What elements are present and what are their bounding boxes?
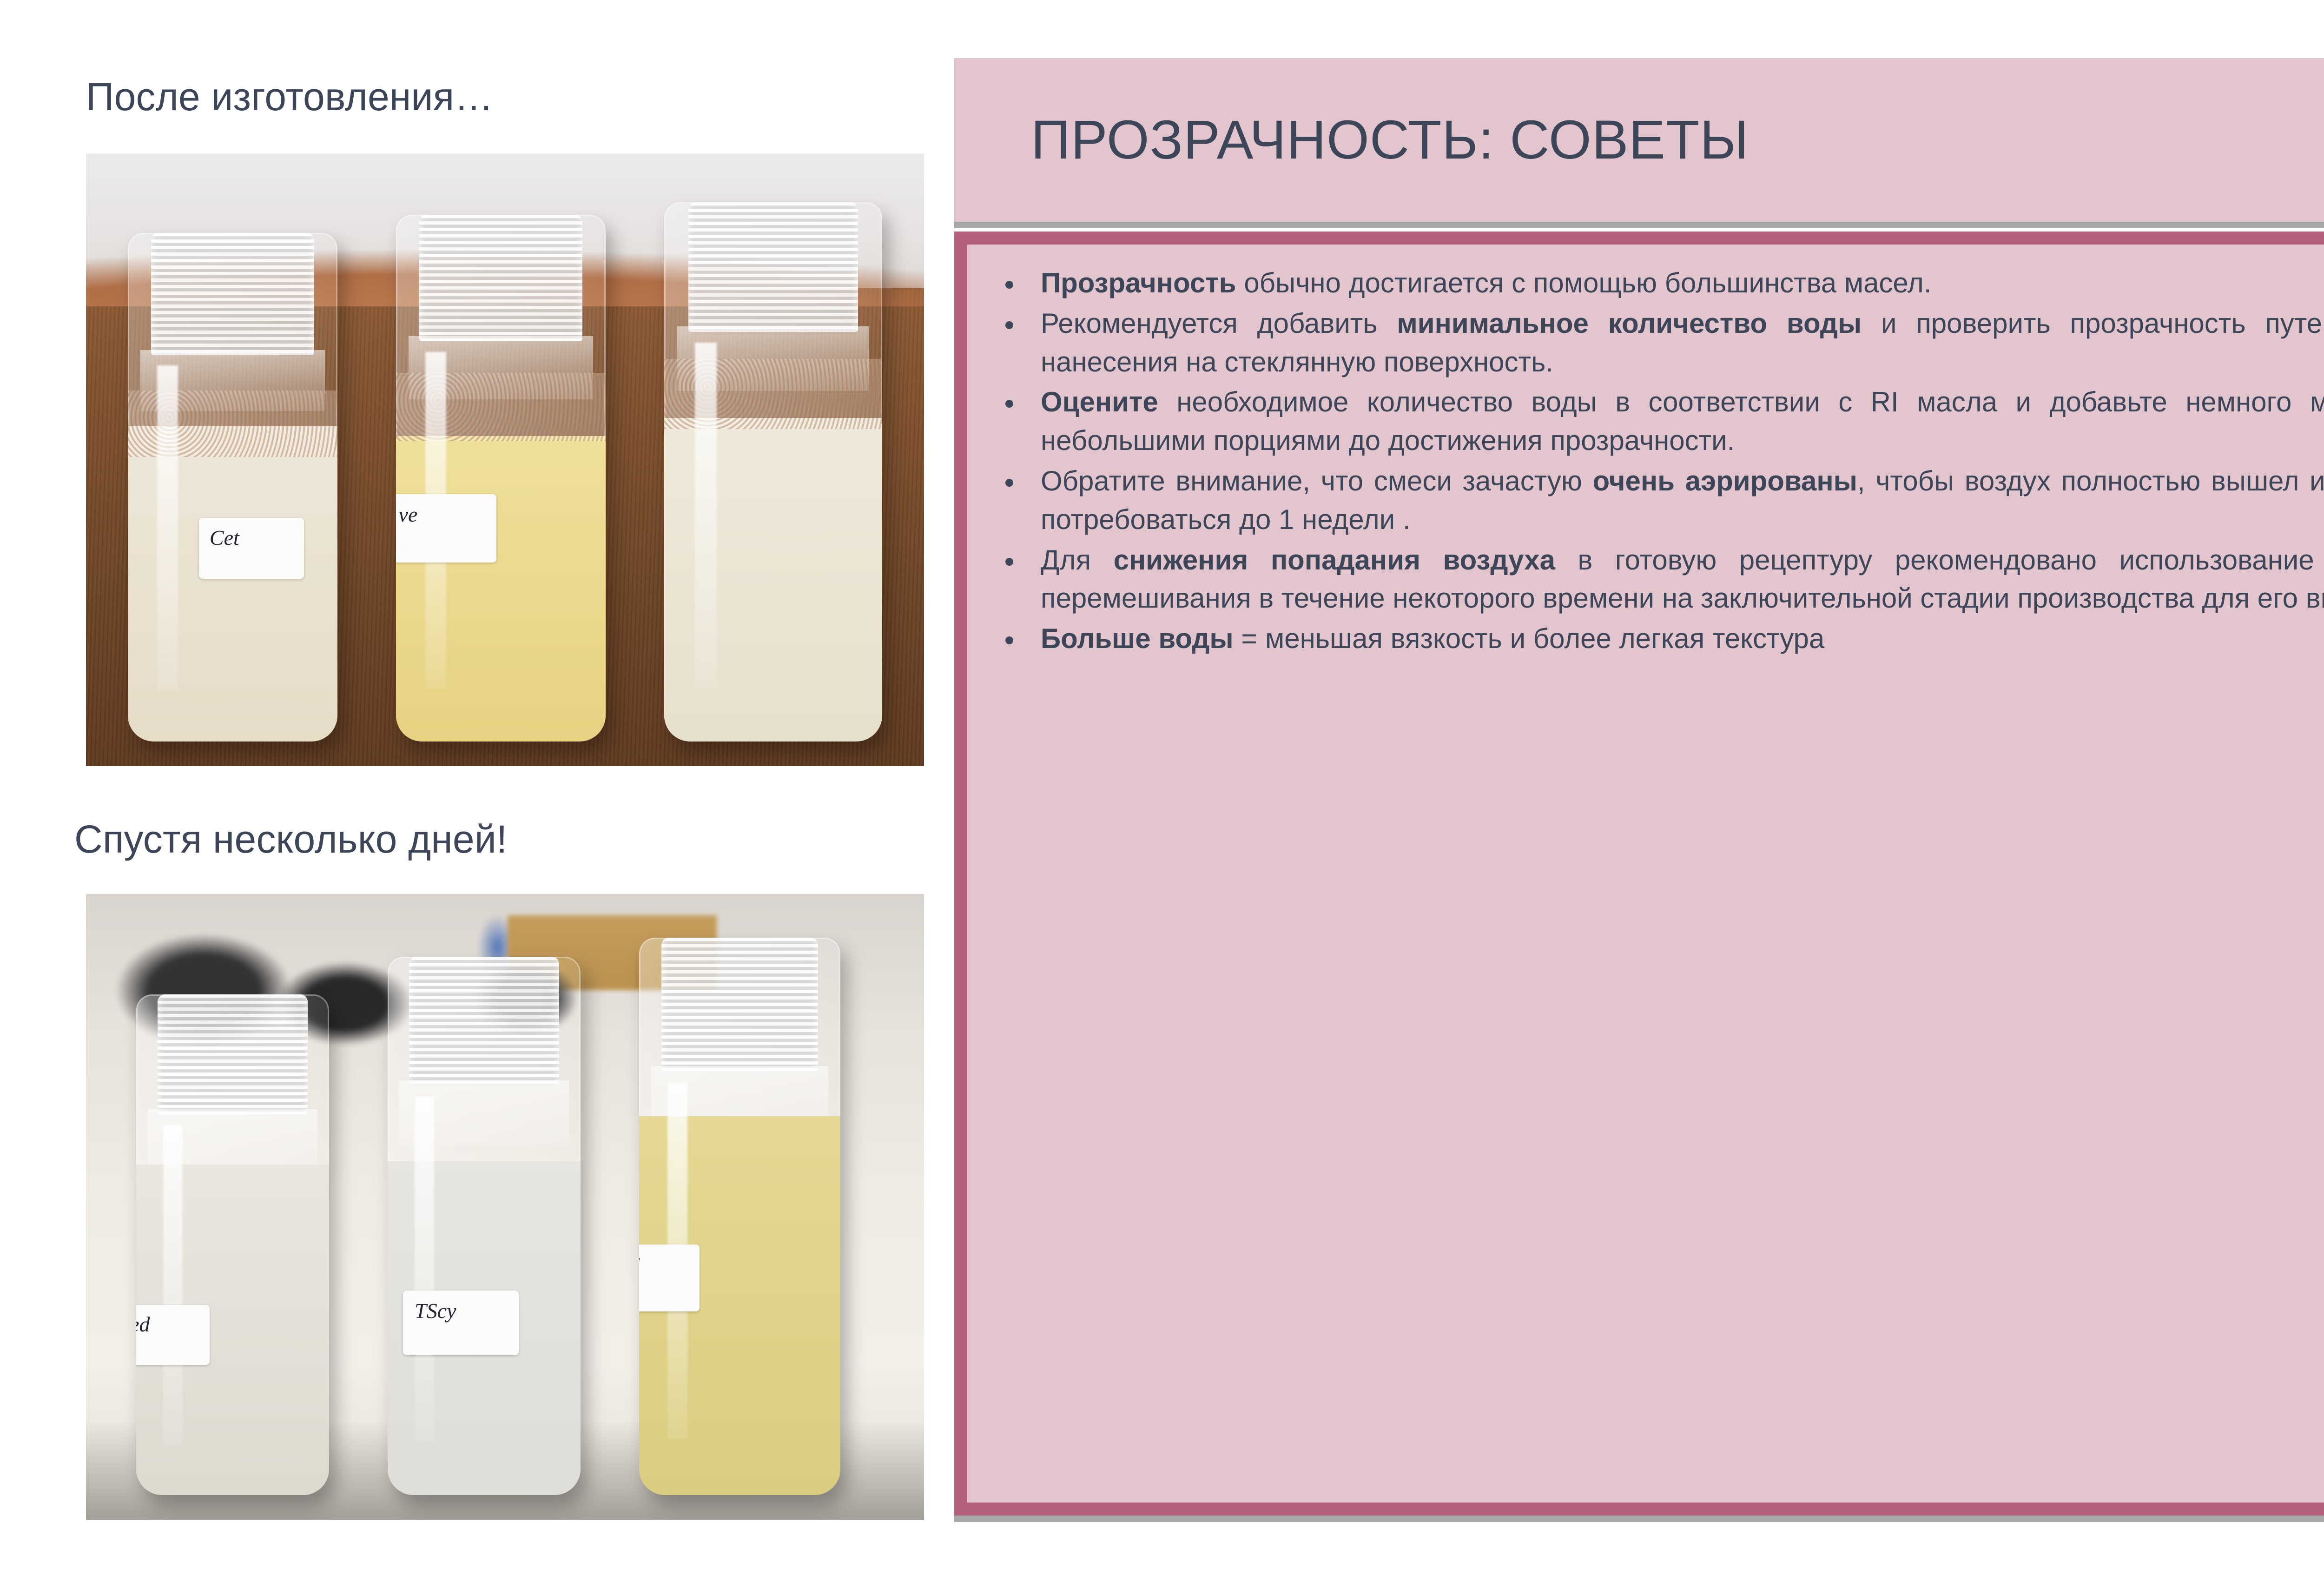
bullet-item: Оцените необходимое количество воды в со… (989, 383, 2324, 460)
bullet-text: Рекомендуется добавить (1041, 308, 1397, 339)
content-panel: Прозрачность обычно достигается с помощь… (954, 232, 2324, 1516)
bottle-label-text: TScy (415, 1298, 456, 1323)
bullet-item: Прозрачность обычно достигается с помощь… (989, 264, 2324, 303)
bottle-cap-icon (419, 215, 583, 341)
bottle-2: ve (396, 215, 606, 741)
bottle-label: ed (136, 1305, 210, 1365)
bottle-cap-icon (151, 233, 315, 355)
bullet-emphasis: Оцените (1041, 386, 1158, 417)
photo-after-manufacturing: Cet ve (86, 153, 924, 766)
bottle-cap-icon (409, 957, 559, 1086)
bottle-label-text: Cet (210, 525, 239, 550)
bottle-3: E (639, 938, 840, 1495)
bottle-3 (664, 202, 882, 741)
bottle-highlight (415, 1097, 434, 1441)
bottle-label-text: E (639, 1252, 640, 1277)
bottle-cap-icon (158, 994, 308, 1115)
bottle-label: E (639, 1245, 700, 1311)
bullet-emphasis: минимальное количество воды (1397, 308, 1862, 339)
bottle-label-text: ve (399, 502, 418, 527)
bullet-list: Прозрачность обычно достигается с помощь… (989, 264, 2324, 658)
bullet-text: = меньшая вязкость и более легкая тексту… (1234, 623, 1825, 654)
bottle-highlight (163, 1125, 182, 1445)
bottle-label: TScy (403, 1291, 519, 1355)
bottle-highlight (157, 365, 178, 691)
bullet-item: Больше воды = меньшая вязкость и более л… (989, 620, 2324, 658)
bullet-item: Для снижения попадания воздуха в готовую… (989, 541, 2324, 618)
photo-bottom-scene: ed TScy E (86, 894, 924, 1520)
photo-after-several-days: ed TScy E (86, 894, 924, 1520)
bottle-highlight (695, 343, 717, 688)
page-title: ПРОЗРАЧНОСТЬ: СОВЕТЫ (1031, 108, 1749, 172)
bottle-label: ve (396, 494, 496, 563)
bullet-emphasis: Больше воды (1041, 623, 1234, 654)
bullet-item: Обратите внимание, что смеси зачастую оч… (989, 462, 2324, 539)
bullet-emphasis: снижения попадания воздуха (1114, 544, 1555, 576)
bottle-cap-icon (688, 202, 858, 331)
bottle-1: ed (136, 994, 329, 1496)
bullet-text: необходимое количество воды в соответств… (1041, 386, 2324, 456)
caption-after-manufacturing: После изготовления… (86, 74, 494, 119)
title-panel: ПРОЗРАЧНОСТЬ: СОВЕТЫ (954, 58, 2324, 222)
bottle-label: Cet (199, 518, 304, 579)
bullet-item: Рекомендуется добавить минимальное колич… (989, 305, 2324, 382)
content-panel-inner: Прозрачность обычно достигается с помощь… (967, 245, 2324, 1503)
bottle-2: TScy (388, 957, 581, 1495)
bullet-emphasis: Прозрачность (1041, 267, 1236, 298)
bullet-text: обычно достигается с помощью большинства… (1236, 267, 1932, 298)
bottle-1: Cet (128, 233, 337, 741)
photo-top-scene: Cet ve (86, 153, 924, 766)
bottle-cap-icon (661, 938, 819, 1072)
bullet-text: Обратите внимание, что смеси зачастую (1041, 465, 1593, 497)
bottle-label-text: ed (136, 1312, 150, 1337)
bullet-emphasis: очень аэрированы (1593, 465, 1857, 497)
caption-after-several-days: Спустя несколько дней! (74, 817, 507, 862)
bullet-text: Для (1041, 544, 1114, 576)
